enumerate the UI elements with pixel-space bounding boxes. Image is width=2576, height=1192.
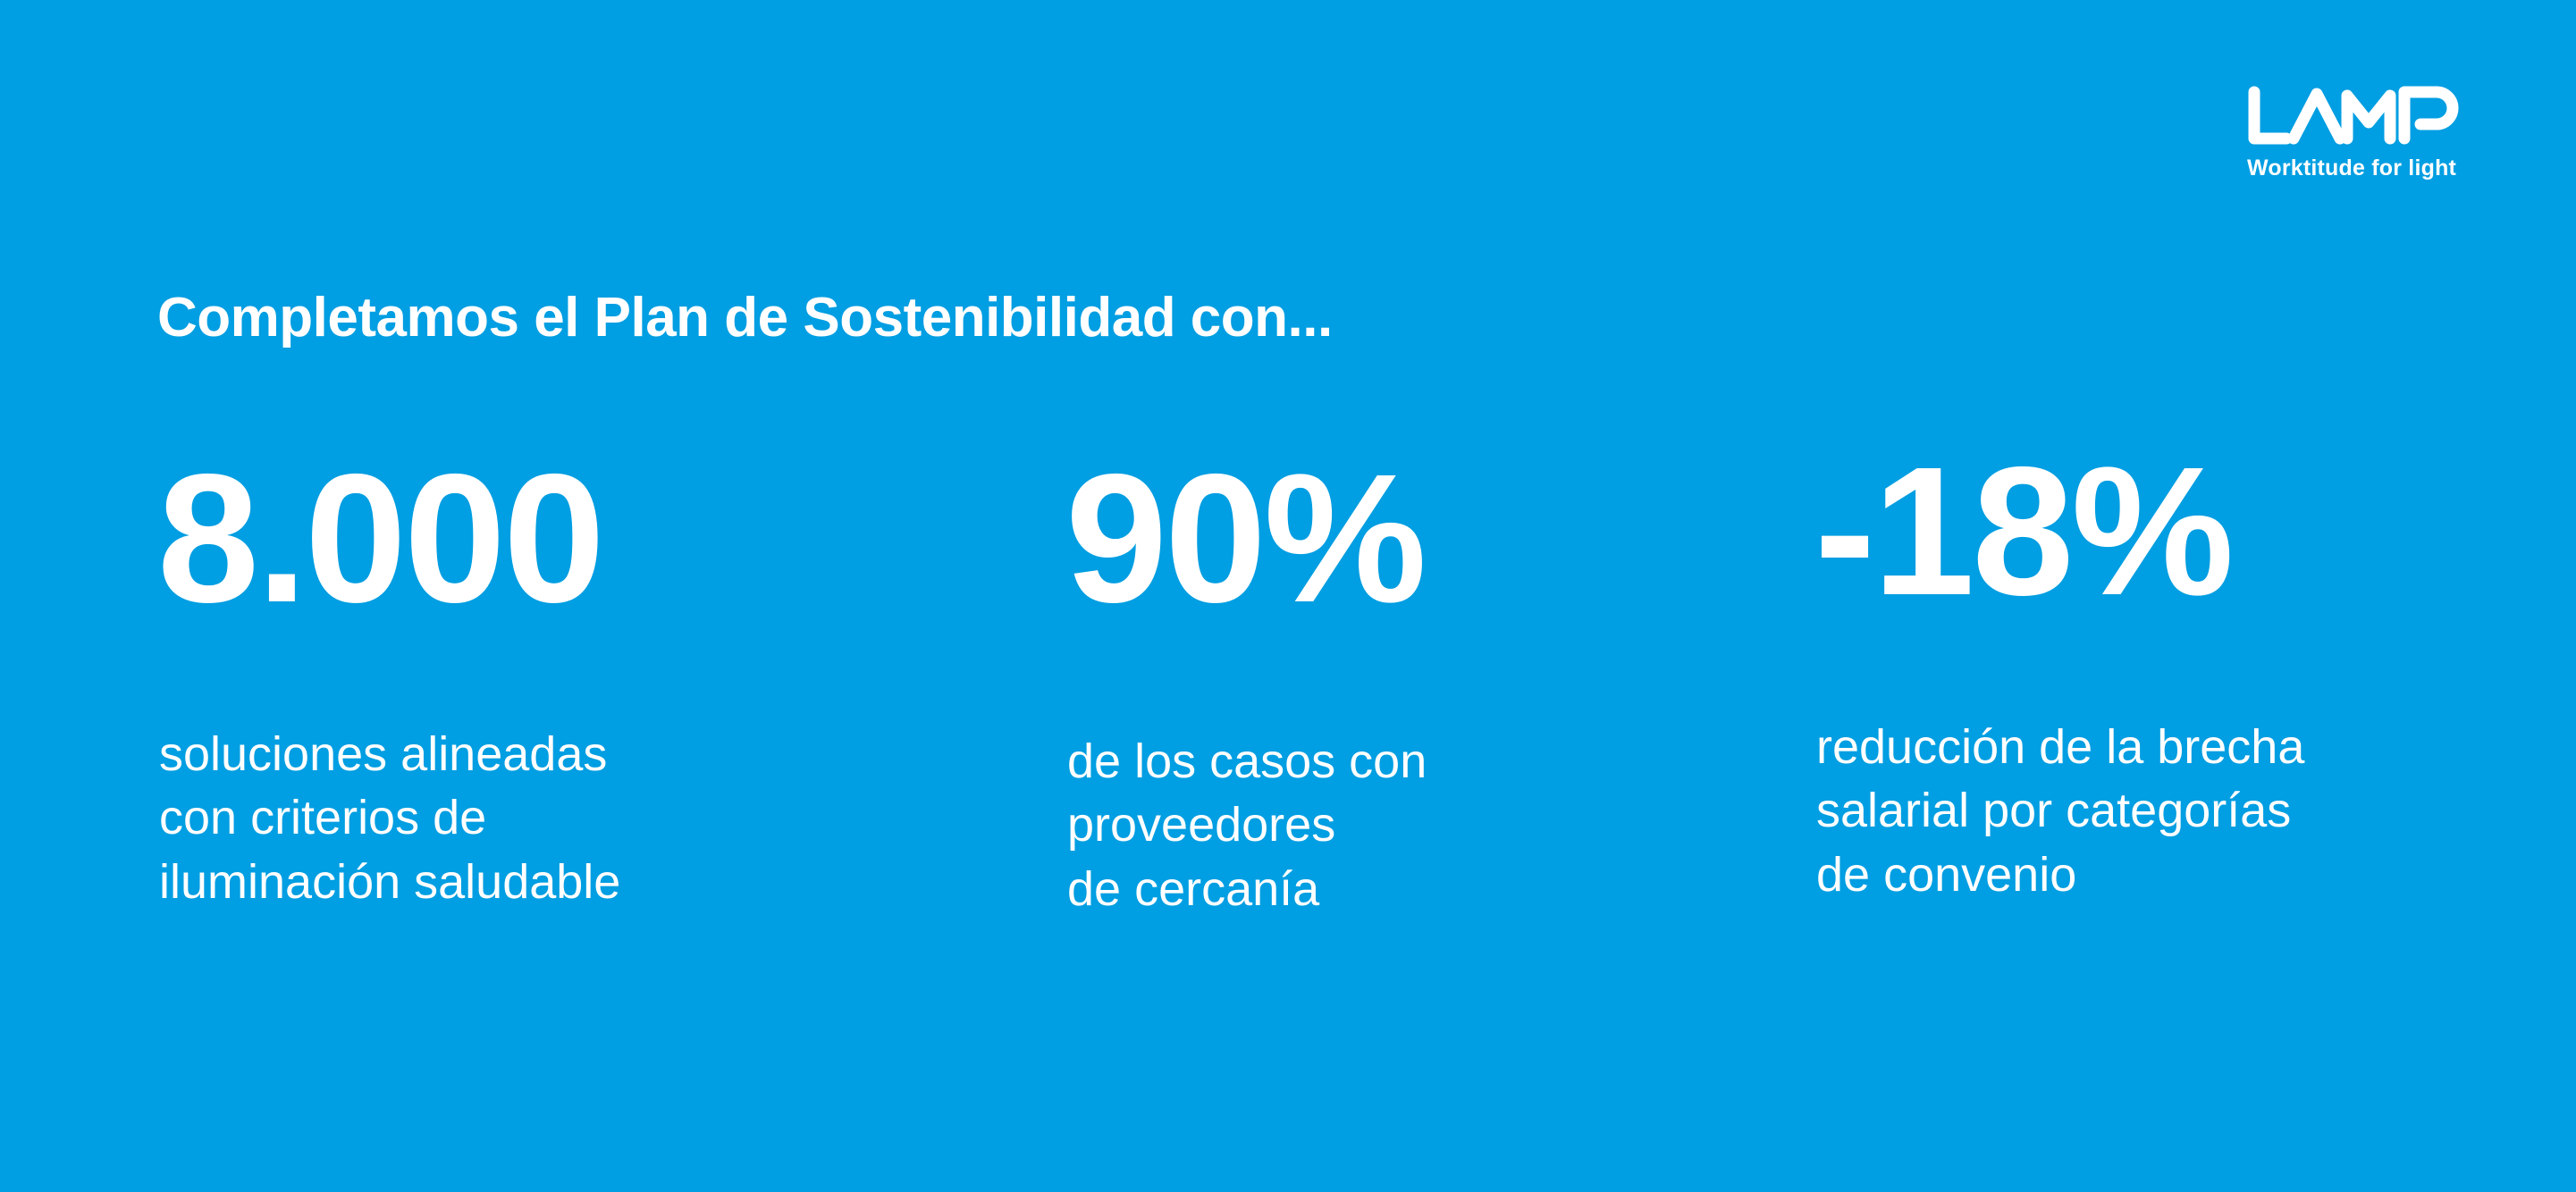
stat-caption-line: con criterios de [159, 786, 620, 850]
stat-caption-1: soluciones alineadas con criterios de il… [159, 723, 620, 914]
stat-caption-line: de los casos con [1067, 730, 1427, 793]
stat-caption-3: reducción de la brecha salarial por cate… [1816, 716, 2304, 907]
stat-item-2: 90% de los casos con proveedores de cerc… [1065, 447, 1427, 921]
sustainability-stats-slide: Worktitude for light Completamos el Plan… [0, 0, 2576, 1192]
stat-caption-line: proveedores [1067, 793, 1427, 857]
stat-caption-line: iluminación saludable [159, 851, 620, 914]
stat-item-1: 8.000 soluciones alineadas con criterios… [157, 447, 620, 914]
stat-item-3: -18% reducción de la brecha salarial por… [1814, 440, 2304, 907]
stat-caption-line: de convenio [1816, 844, 2304, 907]
stats-row: 8.000 soluciones alineadas con criterios… [0, 0, 2576, 1192]
stat-value-3: -18% [1814, 440, 2304, 623]
stat-caption-line: de cercanía [1067, 858, 1427, 921]
stat-caption-line: reducción de la brecha [1816, 716, 2304, 779]
stat-caption-line: salarial por categorías [1816, 779, 2304, 843]
stat-caption-2: de los casos con proveedores de cercanía [1067, 730, 1427, 921]
stat-value-2: 90% [1065, 447, 1427, 630]
stat-caption-line: soluciones alineadas [159, 723, 620, 786]
stat-value-1: 8.000 [157, 447, 620, 630]
